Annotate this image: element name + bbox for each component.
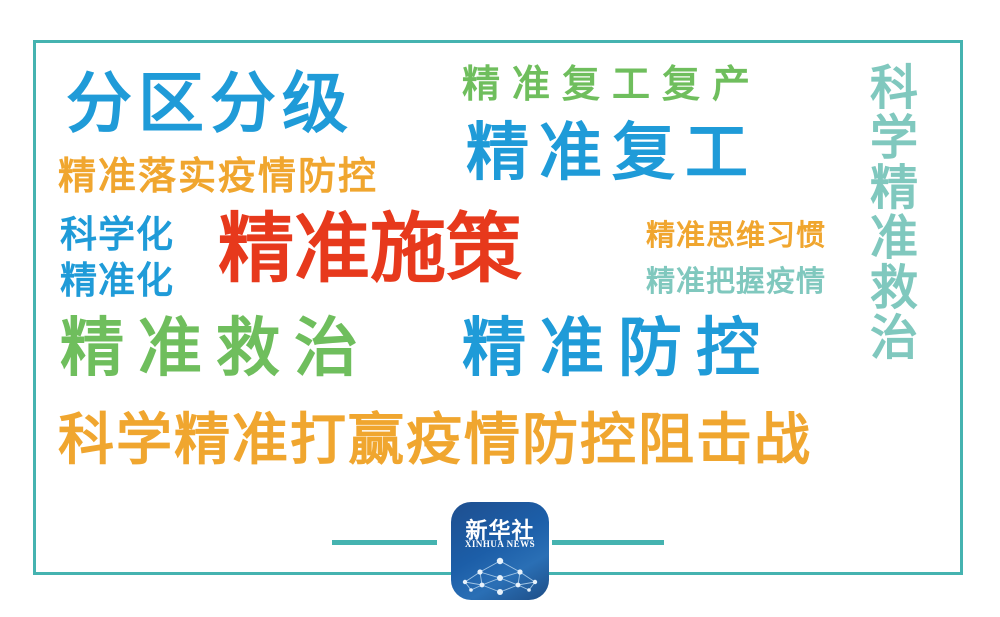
word-kexue-jingzhun-jiuzhi-vertical: 科学精准救治: [864, 62, 912, 362]
word-jingzhun-fugong: 精准复工: [466, 122, 758, 185]
word-jingzhun-fugong-fuchan: 精准复工复产: [462, 66, 762, 104]
logo-english-name: XINHUA NEWS: [451, 539, 549, 549]
word-jingzhun-fangkong: 精准防控: [462, 316, 774, 380]
word-jingzhun-luoshi-yiqing-fangkong: 精准落实疫情防控: [58, 158, 378, 196]
divider-line-right: [552, 540, 664, 545]
poster-canvas: 分区分级 精准复工复产 精准落实疫情防控 精准复工 科学化 精准化 精准施策 精…: [0, 0, 1000, 617]
word-jingzhun-siwei-xiguan: 精准思维习惯: [646, 222, 826, 251]
xinhua-news-logo: 新华社 XINHUA NEWS: [451, 502, 549, 600]
word-jingzhun-jiuzhi: 精准救治: [60, 316, 372, 380]
logo-network-graphic: [451, 552, 549, 600]
word-kexue-jingzhun-zujizhan: 科学精准打赢疫情防控阻击战: [58, 412, 812, 468]
word-jingzhunhua: 精准化: [60, 262, 174, 299]
divider-line-left: [332, 540, 437, 545]
word-jingzhun-bawo-yiqing: 精准把握疫情: [646, 268, 826, 297]
word-kexuehua: 科学化: [60, 216, 174, 253]
word-fenqu-fenji: 分区分级: [66, 70, 354, 136]
word-jingzhun-shice-headline: 精准施策: [218, 212, 522, 288]
